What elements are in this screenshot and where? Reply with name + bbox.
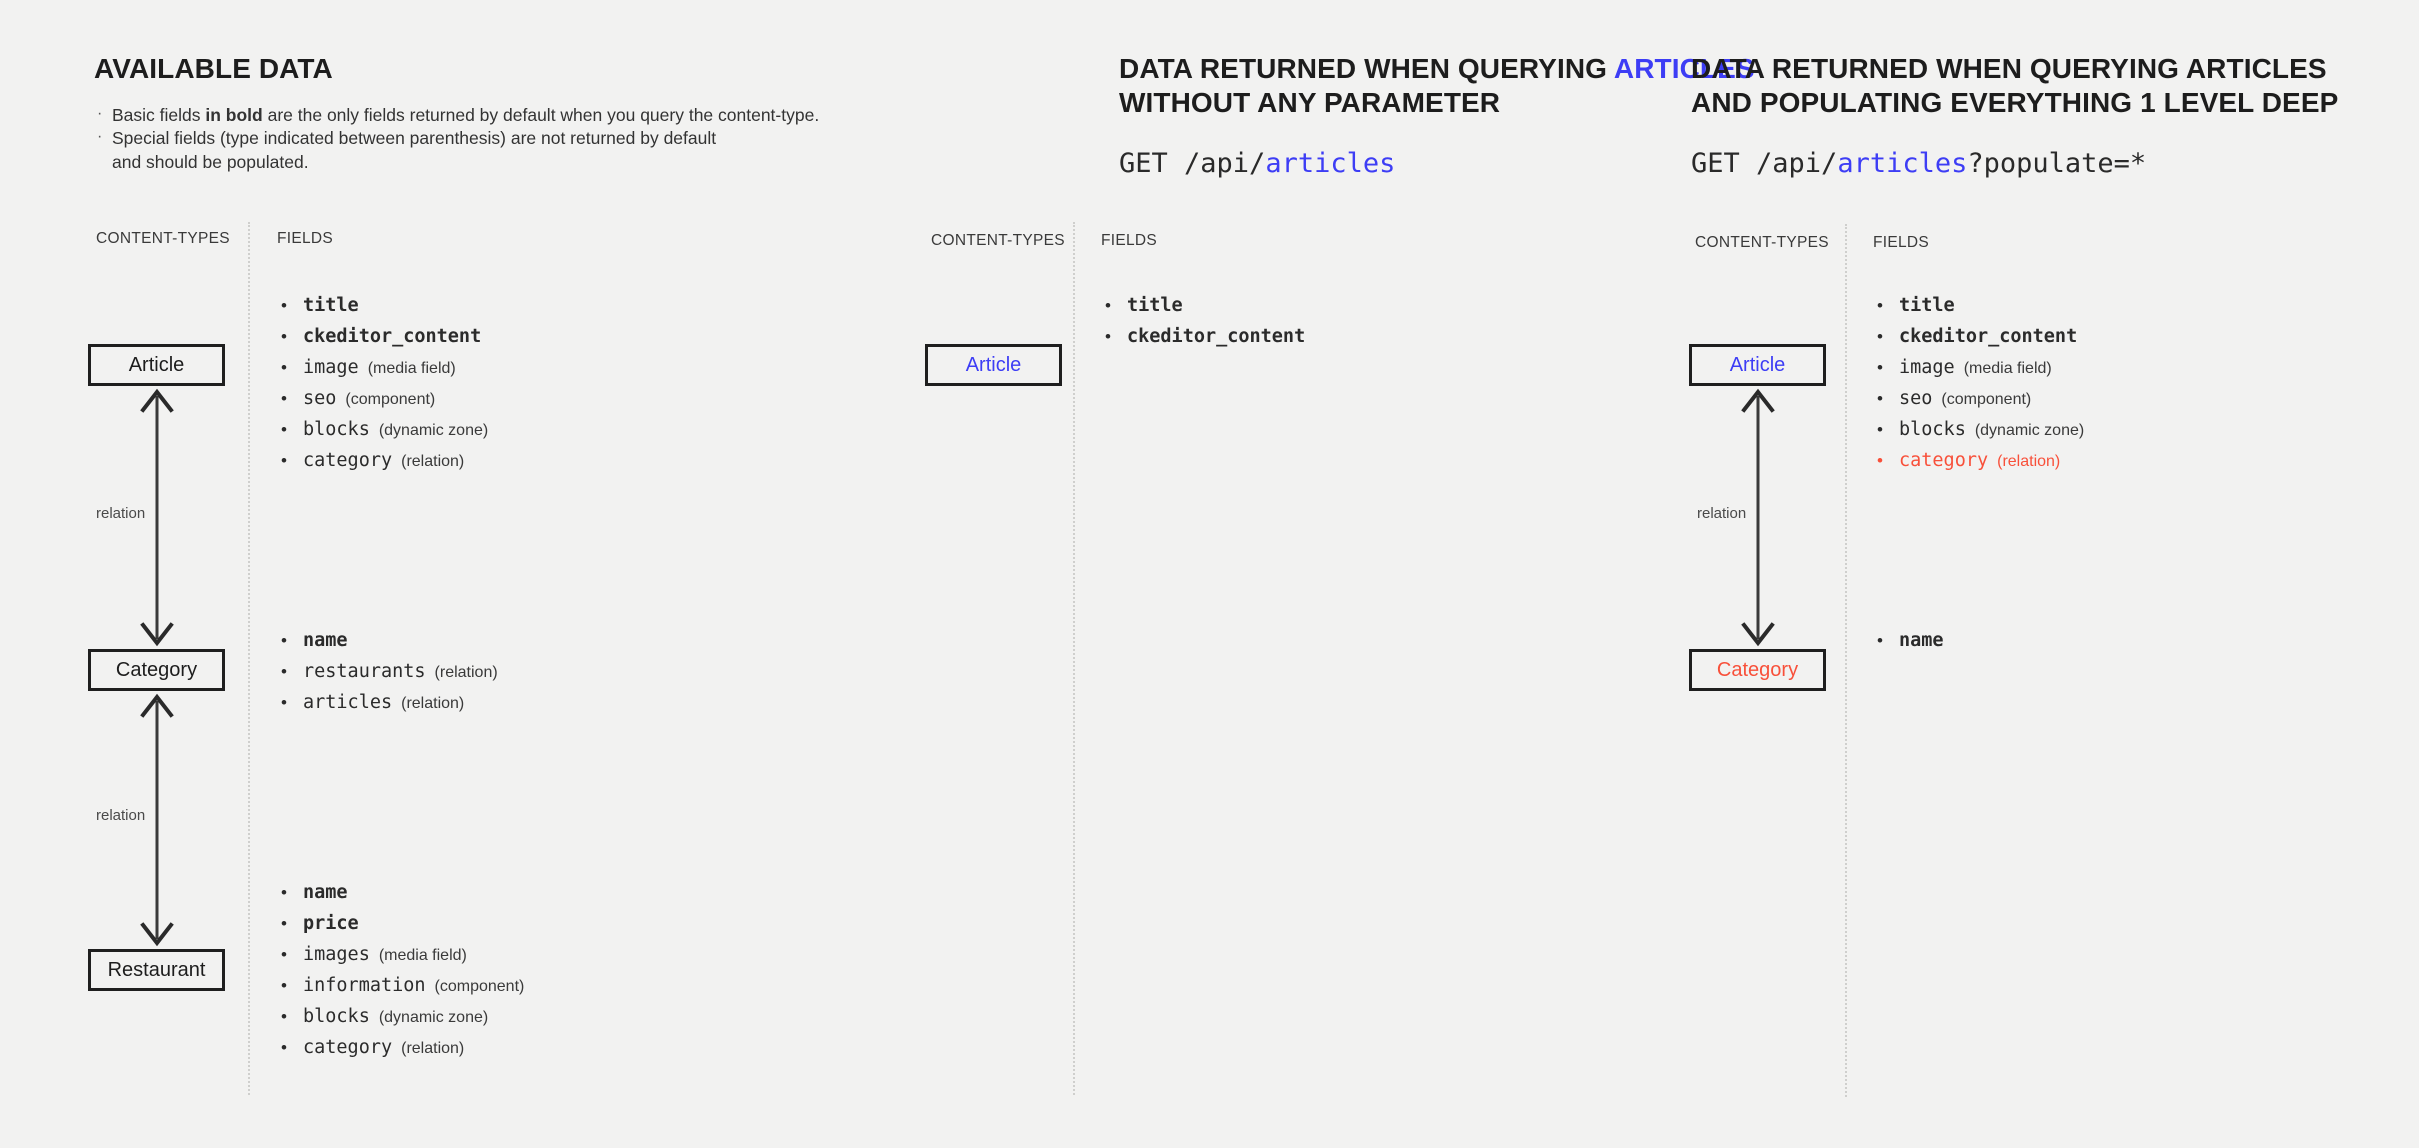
field-list-category: •name •restaurants(relation) •articles(r… — [277, 625, 498, 718]
field-type: (relation) — [401, 695, 464, 712]
panel-3-heading-line2: AND POPULATING EVERYTHING 1 LEVEL DEEP — [1691, 87, 2338, 118]
field-type: (media field) — [379, 947, 467, 964]
bullet-icon: • — [281, 445, 287, 476]
field-name: articles — [303, 692, 392, 713]
content-type-label: Restaurant — [108, 959, 206, 981]
field-name: ckeditor_content — [303, 326, 481, 347]
column-label-fields: FIELDS — [1873, 234, 1929, 252]
panel-2-heading-line1: DATA RETURNED WHEN QUERYING — [1119, 53, 1614, 84]
bullet-icon: • — [1105, 321, 1111, 352]
field-type: (dynamic zone) — [379, 422, 488, 439]
field-row: •image(media field) — [1873, 352, 2084, 383]
field-name: ckeditor_content — [1127, 326, 1305, 347]
bullet-icon: • — [281, 625, 287, 656]
relation-label: relation — [92, 806, 149, 825]
field-name: image — [303, 357, 359, 378]
field-name: information — [303, 975, 426, 996]
field-name: ckeditor_content — [1899, 326, 2077, 347]
field-name: restaurants — [303, 661, 426, 682]
column-label-content-types: CONTENT-TYPES — [931, 232, 1065, 250]
bullet-icon: • — [281, 687, 287, 718]
field-name: blocks — [1899, 419, 1966, 440]
field-type: (relation) — [401, 1040, 464, 1057]
field-row: •title — [277, 290, 488, 321]
field-name: blocks — [303, 1006, 370, 1027]
bullet-icon: • — [1877, 352, 1883, 383]
panel-1-notes: ·Basic fields in bold are the only field… — [95, 104, 925, 174]
diagram-page: AVAILABLE DATA ·Basic fields in bold are… — [0, 0, 2419, 1148]
panel-1-heading-text: AVAILABLE DATA — [94, 53, 333, 84]
field-type: (relation) — [1997, 453, 2060, 470]
content-type-label: Category — [116, 659, 197, 681]
field-row: •name — [277, 625, 498, 656]
field-type: (media field) — [1964, 360, 2052, 377]
field-list-article: •title •ckeditor_content •image(media fi… — [1873, 290, 2084, 476]
relation-label: relation — [1693, 504, 1750, 523]
bullet-icon: • — [1877, 290, 1883, 321]
endpoint-line: GET /api/articles — [1119, 148, 1395, 179]
panel-available-data: AVAILABLE DATA ·Basic fields in bold are… — [0, 0, 1077, 1148]
content-type-box-restaurant[interactable]: Restaurant — [88, 949, 225, 991]
field-row: •image(media field) — [277, 352, 488, 383]
field-type: (component) — [435, 978, 525, 995]
column-label-fields: FIELDS — [277, 230, 333, 248]
bullet-icon: • — [281, 1032, 287, 1063]
note-item-continuation: and should be populated. — [95, 151, 925, 174]
field-name: images — [303, 944, 370, 965]
field-row: •category(relation) — [277, 445, 488, 476]
content-type-box-article[interactable]: Article — [1689, 344, 1826, 386]
bullet-icon: • — [281, 383, 287, 414]
field-row: •blocks(dynamic zone) — [1873, 414, 2084, 445]
field-name: image — [1899, 357, 1955, 378]
field-name: name — [1899, 630, 1944, 651]
endpoint-resource: articles — [1265, 148, 1395, 179]
field-name: seo — [1899, 388, 1932, 409]
field-type: (relation) — [401, 453, 464, 470]
bullet-icon: • — [281, 939, 287, 970]
bullet-icon: · — [97, 126, 102, 147]
bullet-icon: • — [281, 1001, 287, 1032]
content-type-label: Article — [966, 354, 1022, 376]
column-label-content-types: CONTENT-TYPES — [1695, 234, 1829, 252]
field-row: •name — [277, 877, 524, 908]
note-text-post: are the only fields returned by default … — [263, 105, 819, 125]
field-row: •blocks(dynamic zone) — [277, 1001, 524, 1032]
field-row: •ckeditor_content — [277, 321, 488, 352]
relation-arrow-category-restaurant: relation — [130, 691, 184, 949]
content-type-label: Article — [1730, 354, 1786, 376]
panel-1-heading: AVAILABLE DATA — [94, 52, 994, 86]
column-divider — [1845, 224, 1847, 1097]
bullet-icon: • — [1877, 445, 1883, 476]
endpoint-path-prefix: /api/ — [1740, 148, 1838, 179]
bullet-icon: • — [281, 656, 287, 687]
field-name: title — [1127, 295, 1183, 316]
column-divider — [1073, 222, 1075, 1095]
field-name: title — [1899, 295, 1955, 316]
field-name: name — [303, 882, 348, 903]
bullet-icon: · — [97, 103, 102, 124]
field-row: •blocks(dynamic zone) — [277, 414, 488, 445]
content-type-label: Article — [129, 354, 185, 376]
relation-arrow-article-category: relation — [1731, 386, 1785, 649]
bullet-icon: • — [281, 908, 287, 939]
field-type: (dynamic zone) — [379, 1009, 488, 1026]
column-divider — [248, 222, 250, 1095]
endpoint-suffix: ?populate=* — [1967, 148, 2146, 179]
panel-2-heading-line2: WITHOUT ANY PARAMETER — [1119, 87, 1500, 118]
bullet-icon: • — [1877, 625, 1883, 656]
field-row: •images(media field) — [277, 939, 524, 970]
panel-3-heading: DATA RETURNED WHEN QUERYING ARTICLES AND… — [1691, 52, 2419, 120]
content-type-box-article[interactable]: Article — [88, 344, 225, 386]
endpoint-method: GET — [1691, 148, 1740, 179]
bullet-icon: • — [1877, 321, 1883, 352]
content-type-box-category[interactable]: Category — [88, 649, 225, 691]
note-item: ·Basic fields in bold are the only field… — [95, 104, 925, 127]
content-type-box-category[interactable]: Category — [1689, 649, 1826, 691]
field-row: •seo(component) — [277, 383, 488, 414]
endpoint-path-prefix: /api/ — [1168, 148, 1266, 179]
bullet-icon: • — [281, 877, 287, 908]
relation-arrow-article-category: relation — [130, 386, 184, 649]
content-type-label: Category — [1717, 659, 1798, 681]
field-name: price — [303, 913, 359, 934]
field-name: name — [303, 630, 348, 651]
field-row: •ckeditor_content — [1873, 321, 2084, 352]
bullet-icon: • — [281, 414, 287, 445]
field-list-restaurant: •name •price •images(media field) •infor… — [277, 877, 524, 1063]
relation-label: relation — [92, 504, 149, 523]
field-name: category — [1899, 450, 1988, 471]
field-row: •ckeditor_content — [1101, 321, 1305, 352]
bullet-icon: • — [281, 352, 287, 383]
note-text-pre: Special fields (type indicated between p… — [112, 128, 716, 148]
bullet-icon: • — [1877, 414, 1883, 445]
field-list-category: •name — [1873, 625, 1944, 656]
content-type-box-article[interactable]: Article — [925, 344, 1062, 386]
endpoint-line: GET /api/articles?populate=* — [1691, 148, 2146, 179]
field-list-article: •title •ckeditor_content — [1101, 290, 1305, 352]
panel-3-heading-line1: DATA RETURNED WHEN QUERYING ARTICLES — [1691, 53, 2327, 84]
field-row: •category(relation) — [277, 1032, 524, 1063]
bullet-icon: • — [281, 290, 287, 321]
field-name: seo — [303, 388, 336, 409]
field-row: •articles(relation) — [277, 687, 498, 718]
note-item: ·Special fields (type indicated between … — [95, 127, 925, 150]
bullet-icon: • — [1105, 290, 1111, 321]
bullet-icon: • — [1877, 383, 1883, 414]
field-row: •title — [1873, 290, 2084, 321]
field-row: •information(component) — [277, 970, 524, 1001]
bullet-icon: • — [281, 970, 287, 1001]
field-row-highlighted: •category(relation) — [1873, 445, 2084, 476]
field-row: •price — [277, 908, 524, 939]
column-label-content-types: CONTENT-TYPES — [96, 230, 230, 248]
panel-query-populate-all: DATA RETURNED WHEN QUERYING ARTICLES AND… — [1847, 0, 2419, 1148]
field-row: •title — [1101, 290, 1305, 321]
field-row: •seo(component) — [1873, 383, 2084, 414]
field-type: (relation) — [435, 664, 498, 681]
endpoint-method: GET — [1119, 148, 1168, 179]
field-name: title — [303, 295, 359, 316]
field-list-article: •title •ckeditor_content •image(media fi… — [277, 290, 488, 476]
field-type: (dynamic zone) — [1975, 422, 2084, 439]
note-text-continuation: and should be populated. — [112, 152, 309, 172]
field-name: category — [303, 1037, 392, 1058]
field-type: (media field) — [368, 360, 456, 377]
note-text-bold: in bold — [205, 105, 262, 125]
column-label-fields: FIELDS — [1101, 232, 1157, 250]
field-type: (component) — [1941, 391, 2031, 408]
field-name: blocks — [303, 419, 370, 440]
field-row: •restaurants(relation) — [277, 656, 498, 687]
field-row: •name — [1873, 625, 1944, 656]
endpoint-resource: articles — [1837, 148, 1967, 179]
field-type: (component) — [345, 391, 435, 408]
field-name: category — [303, 450, 392, 471]
bullet-icon: • — [281, 321, 287, 352]
note-text-pre: Basic fields — [112, 105, 205, 125]
